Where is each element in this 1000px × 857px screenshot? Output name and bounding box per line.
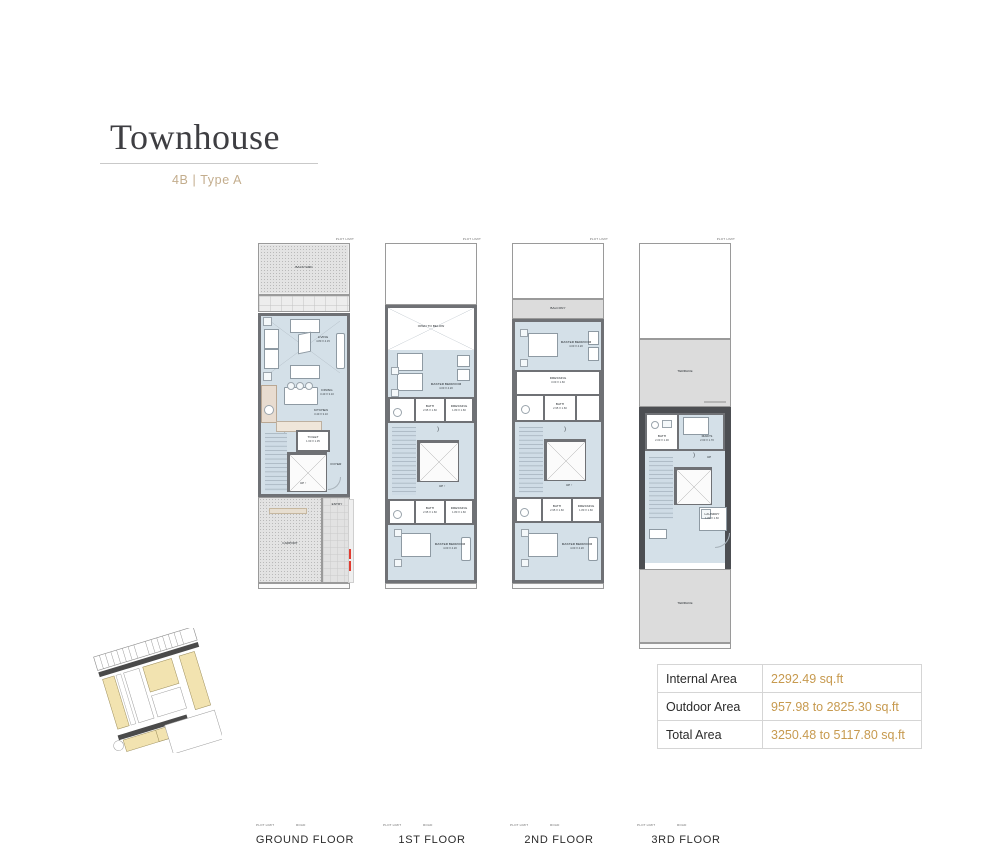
room-label-laundry: LAUNDRY 1.80 X 1.60: [699, 513, 725, 521]
page-title: Townhouse: [110, 119, 280, 155]
room-label-maids: MAID'S 2.60 X 1.70: [691, 435, 723, 443]
room-label-bath: BATH 2.00 X 1.30: [647, 435, 677, 443]
title-divider: [100, 163, 318, 164]
open-plot-third: [639, 243, 731, 339]
room-label-master-bedroom: MASTER BEDROOM 4.00 X 4.20: [425, 383, 467, 391]
room-label-dining: DINING 3.40 X 3.10: [310, 389, 344, 397]
room-label-terrace: TERRACE: [640, 370, 730, 374]
carport-area: CARPORT: [258, 497, 322, 583]
terrace-upper: TERRACE: [639, 339, 731, 407]
site-key-plan: [92, 628, 222, 753]
table-row: Outdoor Area 957.98 to 2825.30 sq.ft: [658, 693, 922, 721]
pergola-area: [258, 295, 350, 312]
floor-caption-first: 1ST FLOOR: [379, 834, 485, 846]
road-label: ROAD: [296, 823, 305, 827]
plot-limit-label-bottom: PLOT LIMIT: [256, 823, 274, 827]
floorplan-third: PLOT LIMIT TERRACE BATH 2.00 X 1.30 MAID…: [633, 237, 739, 857]
open-plot-second: [512, 243, 604, 299]
room-label-entry: ENTRY: [326, 503, 348, 507]
room-label-master-bedroom-2: MASTER BEDROOM 4.00 X 4.20: [556, 543, 598, 551]
room-label-dressing: DRESSING 1.80 X 1.60: [446, 405, 472, 413]
floorplan-second: PLOT LIMIT BALCONY MASTER BEDROOM 4.00 X…: [506, 237, 612, 857]
room-label-balcony: BALCONY: [513, 307, 603, 311]
room-label-living: LIVING 4.80 X 4.15: [306, 336, 340, 344]
area-label-outdoor: Outdoor Area: [658, 693, 763, 721]
road-label: ROAD: [423, 823, 432, 827]
floor-caption-ground: GROUND FLOOR: [252, 834, 358, 846]
plot-limit-label: PLOT LIMIT: [717, 237, 735, 241]
area-value-total: 3250.48 to 5117.80 sq.ft: [763, 721, 922, 749]
road-label: ROAD: [677, 823, 686, 827]
room-label-bath: BATH 2.95 X 1.60: [416, 405, 444, 413]
floorplan-first: PLOT LIMIT OPEN TO BELOW MASTER BEDROOM …: [379, 237, 485, 857]
page-subtitle: 4B | Type A: [172, 173, 242, 187]
open-plot-first: [385, 243, 477, 305]
plot-limit-label-bottom: PLOT LIMIT: [510, 823, 528, 827]
room-label-open-to-below: OPEN TO BELOW: [388, 325, 474, 329]
floor-caption-third: 3RD FLOOR: [633, 834, 739, 846]
room-label-master-bedroom-2: MASTER BEDROOM 4.00 X 4.20: [429, 543, 471, 551]
room-label-kitchen: KITCHEN 3.40 X 3.10: [304, 409, 338, 417]
room-label-dressing: DRESSING 3.00 X 1.60: [536, 377, 580, 385]
table-row: Internal Area 2292.49 sq.ft: [658, 665, 922, 693]
floorplan-ground: PLOT LIMIT BACKYARD LIVING 4.80 X 4.15 D: [252, 237, 358, 857]
room-label-bath: BATH 2.95 X 1.60: [545, 403, 575, 411]
plot-limit-label-bottom: PLOT LIMIT: [637, 823, 655, 827]
open-to-below: [388, 308, 474, 350]
area-label-internal: Internal Area: [658, 665, 763, 693]
area-value-outdoor: 957.98 to 2825.30 sq.ft: [763, 693, 922, 721]
entry-path: [322, 497, 350, 583]
table-row: Total Area 3250.48 to 5117.80 sq.ft: [658, 721, 922, 749]
room-label-backyard: BACKYARD: [259, 266, 349, 270]
room-label-foyer: FOYER: [324, 463, 348, 467]
room-label-dressing-2: DRESSING 1.80 X 1.60: [446, 507, 472, 515]
floor-caption-second: 2ND FLOOR: [506, 834, 612, 846]
room-label-toilet: TOILET 1.60 X 1.35: [298, 436, 328, 444]
plot-limit-label-bottom: PLOT LIMIT: [383, 823, 401, 827]
room-label-terrace-2: TERRACE: [640, 602, 730, 606]
plot-limit-label: PLOT LIMIT: [463, 237, 481, 241]
backyard-area: BACKYARD: [258, 243, 350, 295]
room-label-dressing-2: DRESSING 1.80 X 1.60: [573, 505, 599, 513]
room-label-carport: CARPORT: [259, 542, 321, 546]
road-label: ROAD: [550, 823, 559, 827]
room-label-bath-2: BATH 2.95 X 1.60: [543, 505, 571, 513]
terrace-lower: TERRACE: [639, 569, 731, 643]
area-summary-table: Internal Area 2292.49 sq.ft Outdoor Area…: [657, 664, 922, 749]
room-label-bath-2: BATH 2.95 X 1.60: [416, 507, 444, 515]
floorplan-page: Townhouse 4B | Type A PLOT LIMIT BACKYAR…: [0, 0, 1000, 857]
plot-limit-label: PLOT LIMIT: [336, 237, 354, 241]
area-label-total: Total Area: [658, 721, 763, 749]
area-value-internal: 2292.49 sq.ft: [763, 665, 922, 693]
plot-limit-label: PLOT LIMIT: [590, 237, 608, 241]
balcony-area: BALCONY: [512, 299, 604, 319]
room-label-master-bedroom: MASTER BEDROOM 4.00 X 4.20: [554, 341, 598, 349]
